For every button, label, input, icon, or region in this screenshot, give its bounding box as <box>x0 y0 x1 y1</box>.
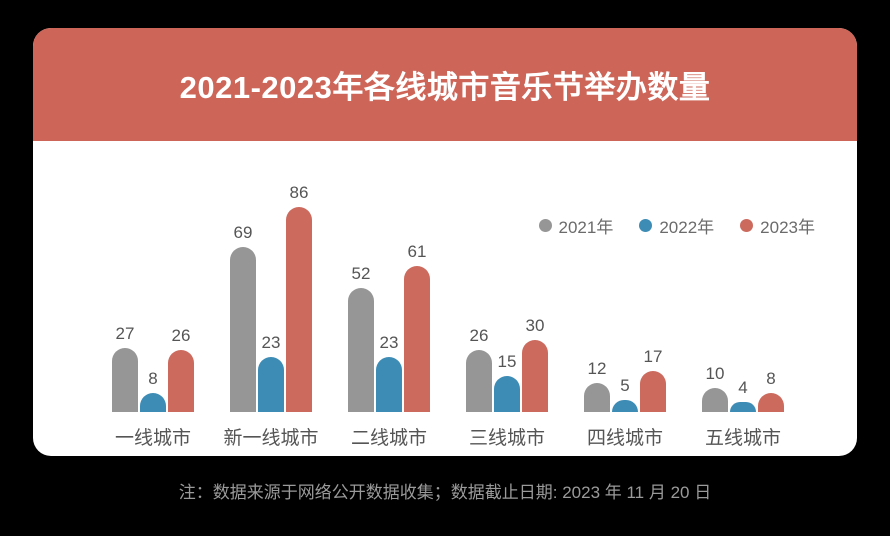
bar-column[interactable]: 69 <box>230 172 256 412</box>
bar-value-label: 30 <box>515 316 555 336</box>
bar-column[interactable]: 26 <box>466 172 492 412</box>
bar[interactable] <box>612 400 638 412</box>
bar-value-label: 17 <box>633 347 673 367</box>
bar-value-label: 8 <box>133 369 173 389</box>
bar-group-bars: 692386 <box>225 172 317 412</box>
bar-chart: 27826一线城市692386新一线城市522361二线城市261530三线城市… <box>93 141 805 456</box>
bar-group: 1048五线城市 <box>697 172 789 412</box>
bar-column[interactable]: 23 <box>258 172 284 412</box>
bar[interactable] <box>376 357 402 412</box>
chart-page: 2021-2023年各线城市音乐节举办数量 2021年 2022年 2023年 … <box>0 0 890 536</box>
bar-column[interactable]: 26 <box>168 172 194 412</box>
bar-group: 522361二线城市 <box>343 172 435 412</box>
bar-group-bars: 12517 <box>579 172 671 412</box>
bar[interactable] <box>640 371 666 412</box>
bar[interactable] <box>404 266 430 412</box>
bar-column[interactable]: 52 <box>348 172 374 412</box>
bar-column[interactable]: 10 <box>702 172 728 412</box>
bar-group: 692386新一线城市 <box>225 172 317 412</box>
chart-footnote: 注：数据来源于网络公开数据收集；数据截止日期: 2023 年 11 月 20 日 <box>33 478 857 503</box>
bar-group: 27826一线城市 <box>107 172 199 412</box>
category-label: 三线城市 <box>442 423 572 450</box>
chart-card: 2021-2023年各线城市音乐节举办数量 2021年 2022年 2023年 … <box>33 28 857 456</box>
bar-group-bars: 1048 <box>697 172 789 412</box>
bar-column[interactable]: 61 <box>404 172 430 412</box>
bar-column[interactable]: 5 <box>612 172 638 412</box>
bar[interactable] <box>522 340 548 412</box>
bar-value-label: 52 <box>341 264 381 284</box>
bar-value-label: 23 <box>369 333 409 353</box>
bar-column[interactable]: 23 <box>376 172 402 412</box>
bar-value-label: 23 <box>251 333 291 353</box>
category-label: 五线城市 <box>678 423 808 450</box>
bar-group-bars: 27826 <box>107 172 199 412</box>
bar-value-label: 26 <box>161 326 201 346</box>
bar-column[interactable]: 17 <box>640 172 666 412</box>
category-label: 新一线城市 <box>206 423 336 450</box>
bar-column[interactable]: 86 <box>286 172 312 412</box>
bar[interactable] <box>286 207 312 412</box>
bar[interactable] <box>730 402 756 412</box>
category-label: 四线城市 <box>560 423 690 450</box>
bar-value-label: 8 <box>751 369 791 389</box>
bar-group: 12517四线城市 <box>579 172 671 412</box>
bar-column[interactable]: 30 <box>522 172 548 412</box>
page-title: 2021-2023年各线城市音乐节举办数量 <box>180 62 711 107</box>
bar-value-label: 15 <box>487 352 527 372</box>
bar-group: 261530三线城市 <box>461 172 553 412</box>
bar-value-label: 26 <box>459 326 499 346</box>
bar-column[interactable]: 15 <box>494 172 520 412</box>
bar[interactable] <box>758 393 784 412</box>
plot-area: 2021年 2022年 2023年 27826一线城市692386新一线城市52… <box>33 141 857 456</box>
bar[interactable] <box>140 393 166 412</box>
bar[interactable] <box>258 357 284 412</box>
title-band: 2021-2023年各线城市音乐节举办数量 <box>33 28 857 141</box>
bar[interactable] <box>494 376 520 412</box>
bar-value-label: 86 <box>279 183 319 203</box>
bar-value-label: 61 <box>397 242 437 262</box>
category-label: 二线城市 <box>324 423 454 450</box>
category-label: 一线城市 <box>88 423 218 450</box>
bar-value-label: 27 <box>105 324 145 344</box>
bar-value-label: 69 <box>223 223 263 243</box>
bar-column[interactable]: 8 <box>140 172 166 412</box>
bar-column[interactable]: 8 <box>758 172 784 412</box>
bar[interactable] <box>168 350 194 412</box>
bar-value-label: 5 <box>605 376 645 396</box>
bar-group-bars: 522361 <box>343 172 435 412</box>
bar-group-bars: 261530 <box>461 172 553 412</box>
bar[interactable] <box>230 247 256 412</box>
